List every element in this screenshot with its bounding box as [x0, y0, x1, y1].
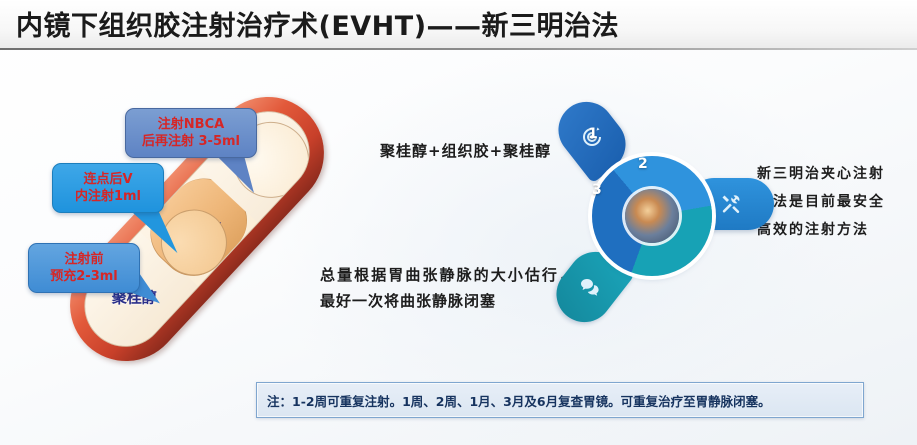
- note-text: 注：1-2周可重复注射。1周、2周、1月、3月及6月复查胃镜。可重复治疗至胃静脉…: [267, 391, 771, 410]
- wheel-number-1: 1: [588, 126, 598, 142]
- callout-1-line-2: 后再注射 3-5ml: [135, 133, 247, 150]
- callout-3-line-2: 预充2-3ml: [38, 268, 130, 285]
- callout-vein-injection[interactable]: 连点后V 内注射1ml: [52, 163, 164, 213]
- callout-2-line-2: 内注射1ml: [62, 188, 154, 205]
- callout-inject-nbca[interactable]: 注射NBCA 后再注射 3-5ml: [125, 108, 257, 158]
- page-title: 内镜下组织胶注射治疗术(EVHT)——新三明治法: [16, 4, 619, 43]
- callout-1-line-1: 注射NBCA: [135, 116, 247, 133]
- slide-canvas: 内镜下组织胶注射治疗术(EVHT)——新三明治法 聚桂醇 组织胶 聚桂醇: [0, 0, 917, 445]
- tools-icon: [719, 192, 743, 216]
- infographic-wheel: 1 2 3: [560, 100, 775, 330]
- conclusion-text: 新三明治夹心注射方法是目前最安全高效的注射方法: [757, 160, 887, 244]
- callout-2-line-1: 连点后V: [62, 171, 154, 188]
- note-box: 注：1-2周可重复注射。1周、2周、1月、3月及6月复查胃镜。可重复治疗至胃静脉…: [256, 382, 864, 418]
- wheel-donut: [592, 156, 712, 276]
- wheel-number-2: 2: [638, 156, 648, 172]
- chat-icon: [578, 275, 602, 299]
- title-divider: [0, 48, 917, 50]
- dosage-text: 总量根据胃曲张静脉的大小估行，最好一次将曲张静脉闭塞: [320, 262, 575, 315]
- callout-pre-injection[interactable]: 注射前 预充2-3ml: [28, 243, 140, 293]
- wheel-number-3: 3: [592, 182, 602, 198]
- formula-text: 聚桂醇+组织胶+聚桂醇: [380, 138, 555, 164]
- callout-3-line-1: 注射前: [38, 251, 130, 268]
- wheel-center-image: [625, 189, 679, 243]
